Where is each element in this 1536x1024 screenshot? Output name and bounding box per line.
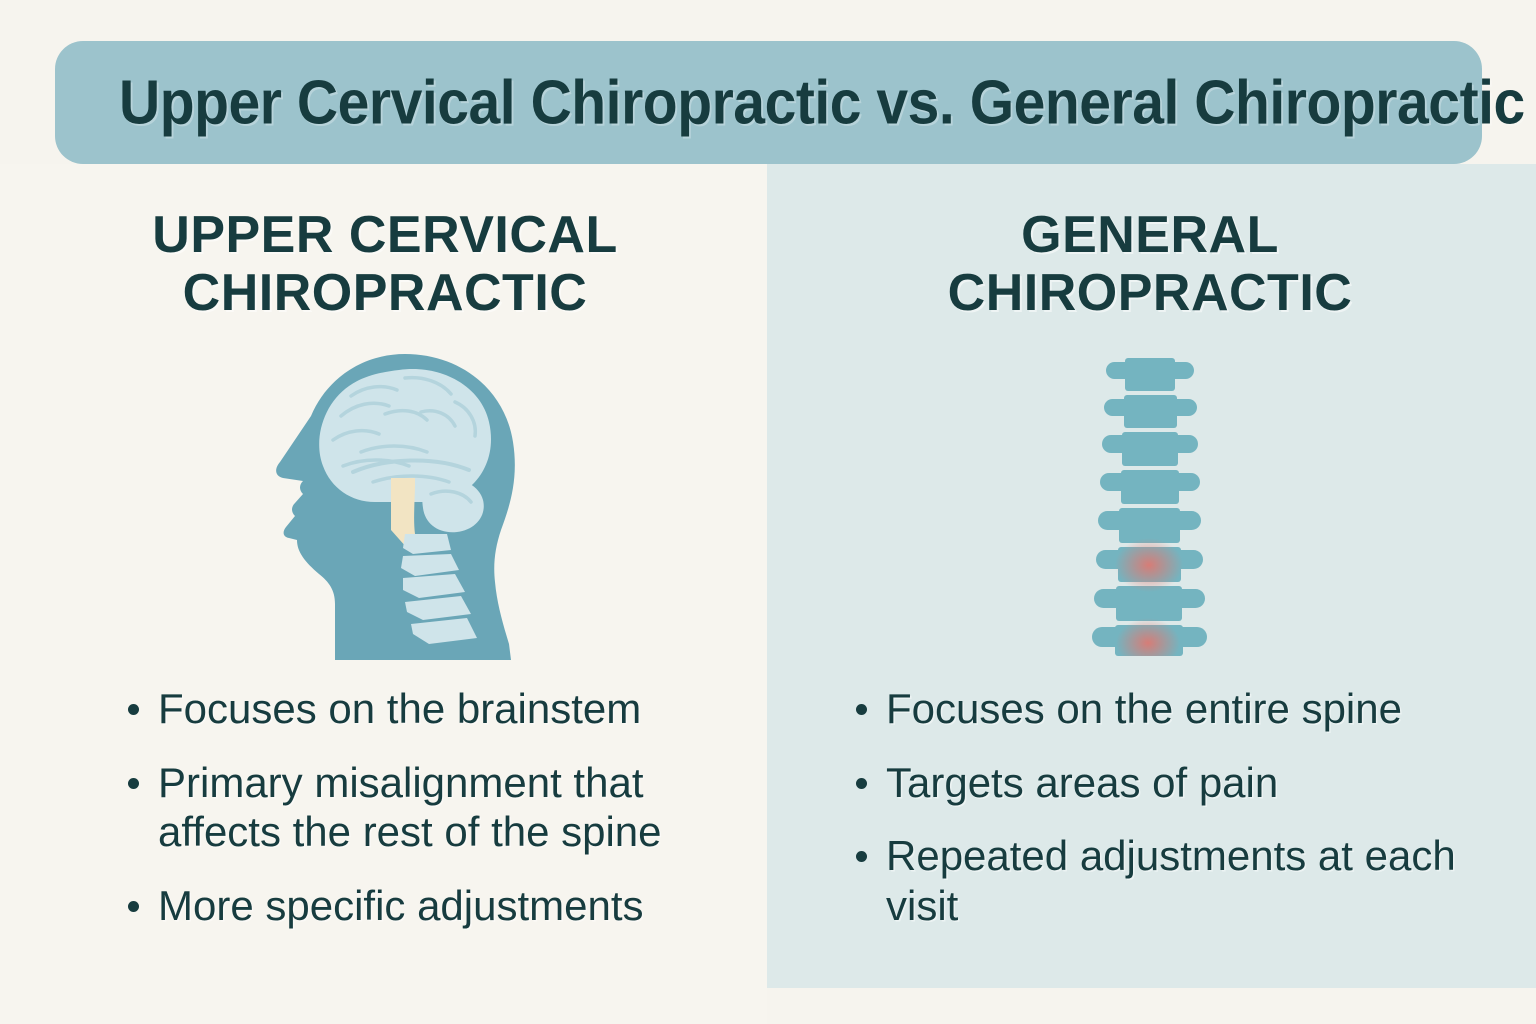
- bullet-item: Focuses on the brainstem: [120, 684, 720, 734]
- full-spine-vertebrae-inflammation-icon: [1078, 356, 1238, 656]
- bullet-list-general: Focuses on the entire spine Targets area…: [848, 684, 1458, 954]
- column-heading-general: GENERAL CHIROPRACTIC: [830, 206, 1470, 322]
- inflammation-marker: [1116, 618, 1180, 656]
- head-brain-brainstem-cervical-spine-icon: [255, 352, 545, 664]
- bullet-item: Focuses on the entire spine: [848, 684, 1458, 734]
- bullet-item: Targets areas of pain: [848, 758, 1458, 808]
- inflammation-marker: [1115, 538, 1183, 592]
- bullet-list-upper-cervical: Focuses on the brainstem Primary misalig…: [120, 684, 720, 954]
- bullet-item: More specific adjustments: [120, 881, 720, 931]
- column-heading-upper-cervical: UPPER CERVICAL CHIROPRACTIC: [60, 206, 710, 322]
- title-bar: Upper Cervical Chiropractic vs. General …: [55, 41, 1482, 164]
- bullet-item: Primary misalignment that affects the re…: [120, 758, 720, 857]
- page-title: Upper Cervical Chiropractic vs. General …: [119, 67, 1525, 138]
- bullet-item: Repeated adjustments at each visit: [848, 831, 1458, 930]
